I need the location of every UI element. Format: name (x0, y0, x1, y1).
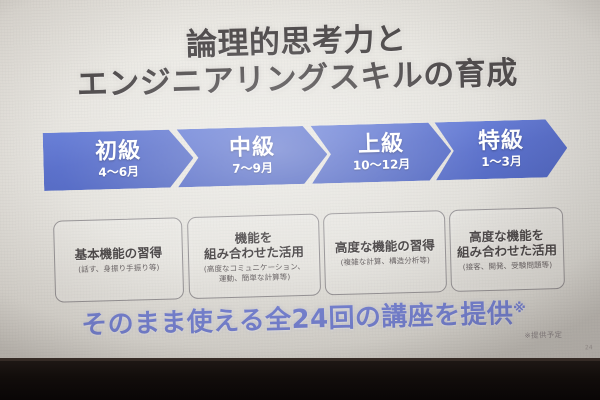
topic-box-basic-skills-note: (話す、身振り手振り等) (78, 263, 159, 275)
banner-footnote: ※提供予定 (524, 329, 562, 341)
topic-box-advanced-combined-title-2: 組み合わせた活用 (457, 242, 557, 260)
level-arrow-expert-period: 1〜3月 (481, 153, 522, 170)
topic-box-row: 基本機能の習得 (話す、身振り手振り等) 機能を 組み合わせた活用 (高度なコミ… (53, 207, 563, 305)
topic-box-combined-functions-title-2: 組み合わせた活用 (204, 244, 304, 262)
topic-box-basic-skills: 基本機能の習得 (話す、身振り手振り等) (53, 217, 184, 302)
level-arrow-advanced-period: 10〜12月 (353, 156, 411, 174)
topic-box-advanced-skills-title: 高度な機能の習得 (335, 238, 435, 256)
slide-page-number: 24 (585, 344, 593, 351)
topic-box-advanced-skills: 高度な機能の習得 (複雑な計算、構造分析等) (323, 210, 447, 295)
level-arrow-intermediate: 中級 7〜9月 (177, 125, 329, 187)
level-arrow-advanced-name: 上級 (358, 132, 405, 156)
topic-box-combined-functions-title-1: 機能を (235, 230, 273, 246)
bottom-banner-asterisk: ※ (513, 301, 526, 316)
topic-box-combined-functions: 機能を 組み合わせた活用 (高度なコミュニケーション、運動、簡単な計算等) (187, 214, 321, 300)
level-arrow-row: 初級 4〜6月 中級 7〜9月 上級 10〜12月 特級 1〜3月 (43, 119, 564, 195)
photo-of-projected-slide: 論理的思考力と エンジニアリングスキルの育成 初級 4〜6月 中級 7〜9月 上… (0, 0, 600, 400)
topic-box-basic-skills-title: 基本機能の習得 (74, 245, 162, 262)
level-arrow-beginner-period: 4〜6月 (98, 163, 139, 180)
bottom-banner-text: そのまま使える全24回の講座を提供 (81, 299, 514, 341)
level-arrow-beginner-name: 初級 (95, 139, 142, 163)
dark-floor-band (0, 358, 600, 400)
level-arrow-intermediate-period: 7〜9月 (232, 160, 273, 177)
topic-box-combined-functions-note: (高度なコミュニケーション、運動、簡単な計算等) (204, 262, 306, 284)
level-arrow-beginner: 初級 4〜6月 (43, 129, 195, 191)
level-arrow-expert-name: 特級 (478, 129, 525, 153)
topic-box-advanced-combined: 高度な機能を 組み合わせた活用 (接客、開発、受験問題等) (449, 207, 565, 292)
slide-title: 論理的思考力と エンジニアリングスキルの育成 (0, 16, 598, 106)
level-arrow-expert: 特級 1〜3月 (434, 119, 568, 181)
topic-box-advanced-combined-note: (接客、開発、受験問題等) (463, 260, 553, 272)
slide-content: 論理的思考力と エンジニアリングスキルの育成 初級 4〜6月 中級 7〜9月 上… (0, 0, 600, 368)
projection-screen: 論理的思考力と エンジニアリングスキルの育成 初級 4〜6月 中級 7〜9月 上… (0, 0, 600, 385)
level-arrow-intermediate-name: 中級 (229, 136, 276, 160)
topic-box-advanced-skills-note: (複雑な計算、構造分析等) (340, 256, 430, 268)
level-arrow-advanced: 上級 10〜12月 (311, 122, 453, 184)
